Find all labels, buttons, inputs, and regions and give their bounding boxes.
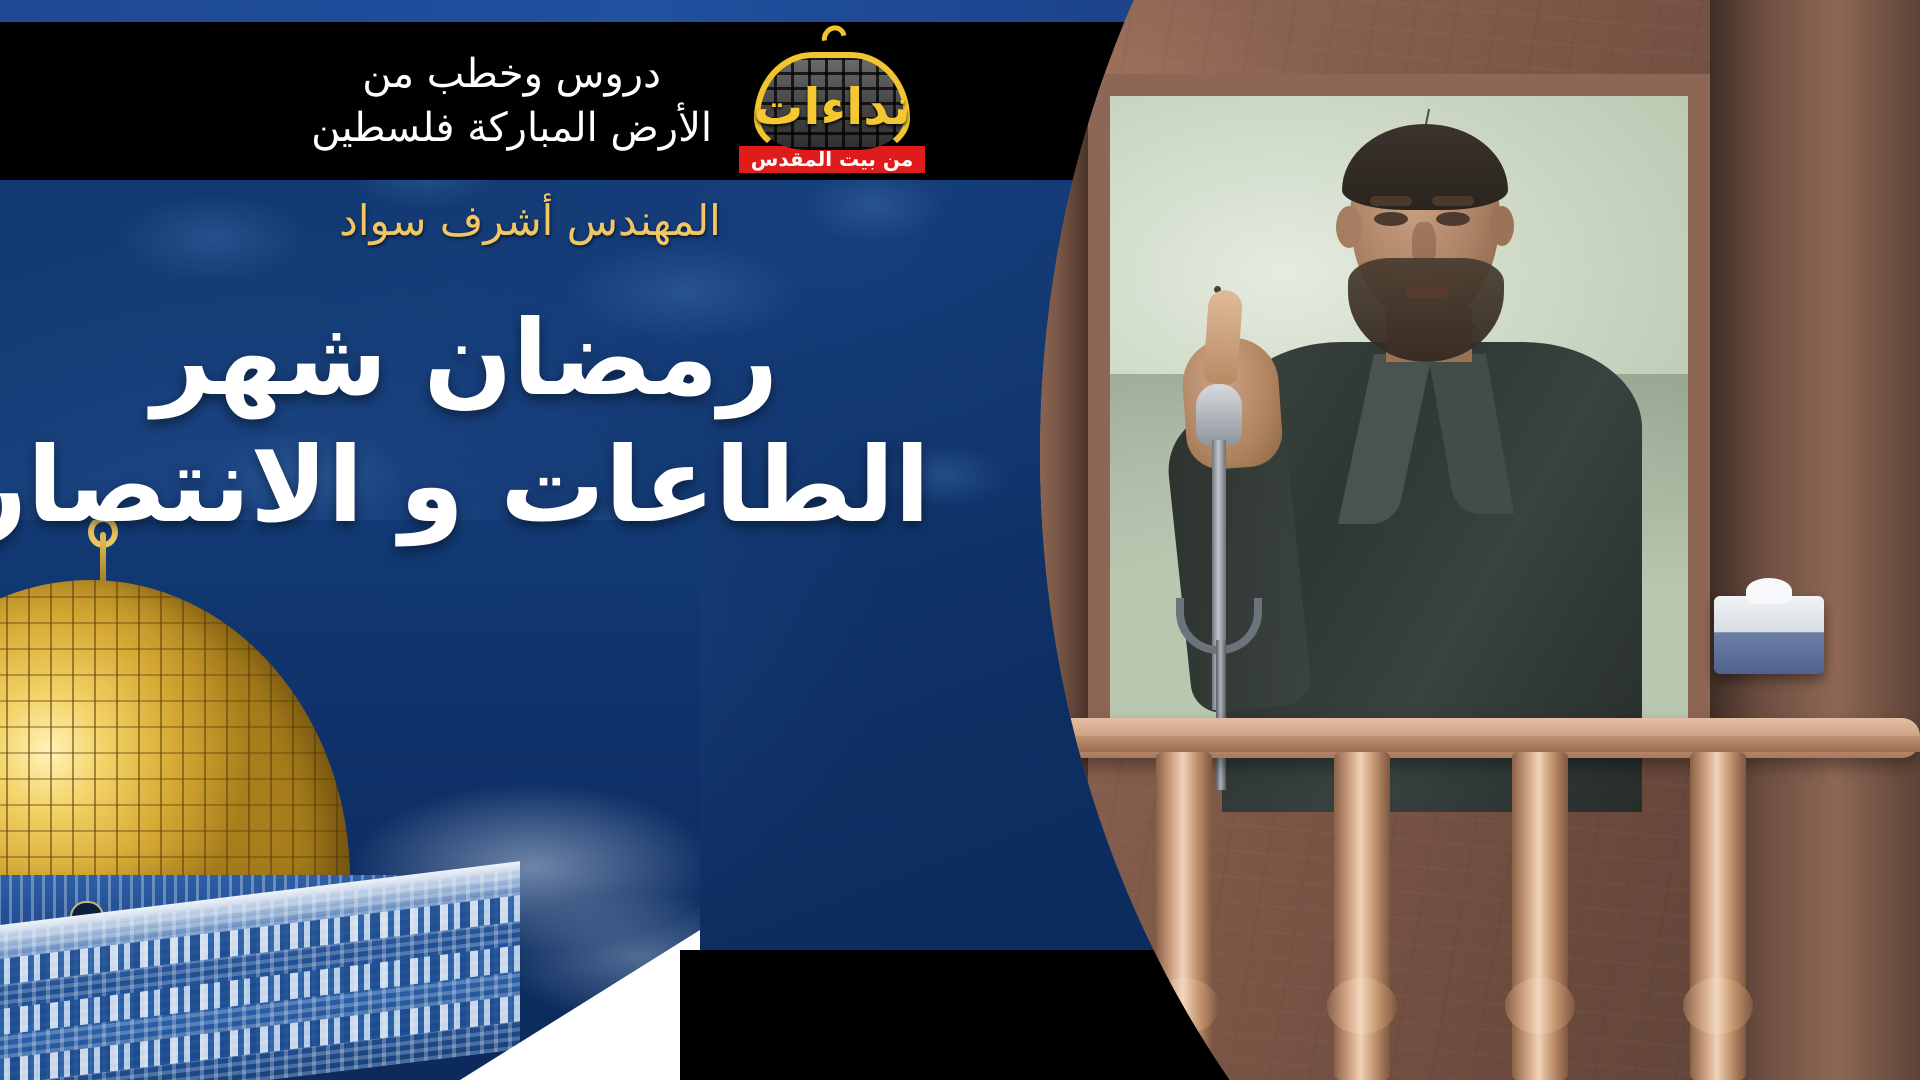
logo-wordmark: نداءات	[753, 82, 911, 132]
lecture-title: رمضان شهر الطاعات و الانتصارات	[0, 300, 930, 547]
khatib-figure	[1160, 110, 1680, 810]
baluster-bulb	[1505, 978, 1575, 1034]
speaker-name: المهندس أشرف سواد	[0, 196, 1060, 245]
ear-left	[1336, 206, 1362, 248]
minbar-rail-crossbar	[956, 736, 1920, 752]
microphone-head	[1196, 384, 1242, 446]
dome-of-the-rock-artwork	[0, 520, 700, 1080]
tagline-line-2: الأرض المباركة فلسطين	[311, 101, 712, 155]
ear-right	[1490, 206, 1514, 246]
hair	[1342, 124, 1508, 210]
pointing-finger	[1203, 289, 1243, 385]
baluster-bulb	[1327, 978, 1397, 1034]
eyebrow-right	[1432, 196, 1474, 206]
top-blue-rail	[0, 0, 1180, 22]
mouth	[1406, 286, 1448, 298]
thumbnail-canvas: نداءات من بيت المقدس دروس وخطب من الأرض …	[0, 0, 1920, 1080]
microphone-base-rod	[1216, 640, 1226, 790]
globe-dome-logo: نداءات	[747, 30, 917, 150]
header-band: نداءات من بيت المقدس دروس وخطب من الأرض …	[0, 22, 1180, 180]
tissue-box	[1714, 596, 1824, 674]
crescent-icon	[817, 20, 852, 55]
tissue-puff	[1746, 578, 1792, 604]
header-tagline: دروس وخطب من الأرض المباركة فلسطين	[311, 47, 712, 155]
title-line-2: الطاعات و الانتصارات	[0, 424, 930, 547]
eye-left	[1374, 212, 1408, 226]
channel-logo[interactable]: نداءات من بيت المقدس	[712, 22, 952, 180]
baluster-bulb	[1683, 978, 1753, 1034]
tagline-line-1: دروس وخطب من	[311, 47, 712, 101]
title-line-1: رمضان شهر	[0, 300, 930, 416]
eyebrow-left	[1370, 196, 1412, 206]
eye-right	[1436, 212, 1470, 226]
bottom-black-strip	[680, 950, 1200, 1080]
